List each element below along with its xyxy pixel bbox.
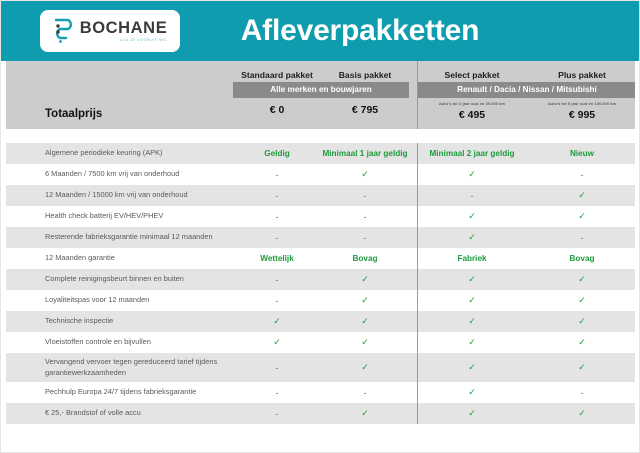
page-banner: BOCHANE ALS JE VOORUIT WIL Afleverpakket…	[1, 1, 639, 61]
feature-value-cell: ✓	[321, 408, 409, 419]
feature-value-cell: ✓	[417, 387, 527, 398]
feature-value-cell: ✓	[321, 295, 409, 306]
feature-value-cell: ✓	[233, 316, 321, 327]
feature-value-cell: ✓	[417, 408, 527, 419]
feature-value-cell: -	[321, 191, 409, 201]
header-separator	[1, 129, 639, 143]
feature-label: 6 Maanden / 7500 km vrij van onderhoud	[1, 169, 233, 180]
feature-value-cell: ✓	[527, 337, 637, 348]
column-header-standaard: Standaard pakket	[233, 61, 321, 80]
feature-value-cell: ✓	[527, 190, 637, 201]
feature-value-cell: -	[527, 170, 637, 180]
package-group-1: Standaard pakket Basis pakket Alle merke…	[233, 61, 409, 129]
feature-value-cell: ✓	[321, 169, 409, 180]
table-row: Complete reinigingsbeurt binnen en buite…	[1, 269, 639, 290]
feature-label: € 25,- Brandstof of volle accu	[1, 408, 233, 419]
feature-value-cell: ✓	[417, 211, 527, 222]
feature-value-cell: ✓	[417, 274, 527, 285]
feature-value-cell: Minimaal 2 jaar geldig	[417, 149, 527, 158]
table-row: € 25,- Brandstof of volle accu-✓✓✓	[1, 403, 639, 424]
feature-label: Technische inspectie	[1, 316, 233, 327]
feature-value-cell: ✓	[417, 337, 527, 348]
column-header-select: Select pakket	[417, 61, 527, 80]
table-row: Technische inspectie✓✓✓✓	[1, 311, 639, 332]
feature-value-cell: -	[233, 212, 321, 222]
feature-value-cell: -	[233, 409, 321, 419]
feature-value-cell: ✓	[417, 295, 527, 306]
feature-value-cell: ✓	[321, 337, 409, 348]
feature-value-cell: ✓	[527, 408, 637, 419]
table-row: 6 Maanden / 7500 km vrij van onderhoud-✓…	[1, 164, 639, 185]
table-row: Vervangend vervoer tegen gereduceerd tar…	[1, 353, 639, 382]
feature-value-cell: -	[233, 275, 321, 285]
feature-value-cell: ✓	[417, 232, 527, 243]
feature-value-cell: ✓	[527, 362, 637, 373]
group-gap	[409, 61, 417, 129]
feature-value-cell: Geldig	[233, 149, 321, 158]
feature-value-cell: ✓	[527, 316, 637, 327]
group-badge-merken: Renault / Dacia / Nissan / Mitsubishi	[417, 82, 637, 98]
feature-value-cell: -	[233, 388, 321, 398]
feature-value-cell: ✓	[321, 316, 409, 327]
table-row: Algemene periodieke keuring (APK)GeldigM…	[1, 143, 639, 164]
feature-label: Loyaliteitspas voor 12 maanden	[1, 295, 233, 306]
feature-value-cell: -	[321, 388, 409, 398]
feature-value-cell: ✓	[527, 211, 637, 222]
table-row: Resterende fabrieksgarantie minimaal 12 …	[1, 227, 639, 248]
feature-value-cell: -	[417, 191, 527, 201]
feature-value-cell: -	[233, 191, 321, 201]
feature-value-cell: Fabriek	[417, 254, 527, 263]
feature-value-cell: ✓	[417, 362, 527, 373]
feature-value-cell: -	[321, 233, 409, 243]
price-basis: € 795	[321, 104, 409, 116]
feature-value-cell: Bovag	[527, 254, 637, 263]
group-divider-body	[417, 143, 418, 424]
package-group-2: Select pakket Plus pakket Renault / Daci…	[417, 61, 637, 129]
feature-value-cell: -	[233, 363, 321, 373]
feature-value-cell: -	[233, 296, 321, 306]
feature-value-cell: -	[527, 388, 637, 398]
page-title: Afleverpakketten	[1, 14, 639, 48]
table-row: Loyaliteitspas voor 12 maanden-✓✓✓	[1, 290, 639, 311]
afleverpakketten-comparison-table: BOCHANE ALS JE VOORUIT WIL Afleverpakket…	[0, 0, 640, 453]
price-standaard: € 0	[233, 104, 321, 116]
feature-value-cell: ✓	[527, 274, 637, 285]
price-select: € 495	[417, 109, 527, 121]
feature-label: Pechhulp Europa 24/7 tijdens fabrieksgar…	[1, 387, 233, 398]
feature-value-cell: Nieuw	[527, 149, 637, 158]
price-plus: € 995	[527, 109, 637, 121]
right-edge-strip	[635, 61, 639, 452]
feature-label: 12 Maanden garantie	[1, 253, 233, 264]
feature-value-cell: ✓	[417, 316, 527, 327]
feature-value-cell: -	[233, 233, 321, 243]
group-divider	[417, 61, 418, 129]
feature-value-cell: Bovag	[321, 254, 409, 263]
feature-value-cell: ✓	[417, 169, 527, 180]
feature-value-cell: ✓	[321, 362, 409, 373]
feature-value-cell: -	[321, 212, 409, 222]
feature-value-cell: ✓	[527, 295, 637, 306]
group-badge-alle-merken: Alle merken en bouwjaren	[233, 82, 409, 98]
feature-label: 12 Maanden / 15000 km vrij van onderhoud	[1, 190, 233, 201]
feature-label: Algemene periodieke keuring (APK)	[1, 148, 233, 159]
feature-value-cell: ✓	[321, 274, 409, 285]
table-row: 12 Maanden garantieWettelijkBovagFabriek…	[1, 248, 639, 269]
feature-label: Resterende fabrieksgarantie minimaal 12 …	[1, 232, 233, 243]
feature-value-cell: Minimaal 1 jaar geldig	[321, 149, 409, 158]
total-price-label: Totaalprijs	[1, 108, 233, 129]
feature-rows: Algemene periodieke keuring (APK)GeldigM…	[1, 143, 639, 424]
feature-label: Vervangend vervoer tegen gereduceerd tar…	[1, 357, 233, 378]
feature-label: Complete reinigingsbeurt binnen en buite…	[1, 274, 233, 285]
column-header-plus: Plus pakket	[527, 61, 637, 80]
table-row: Vloeistoffen controle en bijvullen✓✓✓✓	[1, 332, 639, 353]
feature-label: Health check batterij EV/HEV/PHEV	[1, 211, 233, 222]
left-edge-strip	[1, 61, 6, 452]
table-header-band: Totaalprijs Standaard pakket Basis pakke…	[1, 61, 639, 129]
table-row: 12 Maanden / 15000 km vrij van onderhoud…	[1, 185, 639, 206]
table-row: Health check batterij EV/HEV/PHEV--✓✓	[1, 206, 639, 227]
feature-value-cell: -	[233, 170, 321, 180]
feature-label: Vloeistoffen controle en bijvullen	[1, 337, 233, 348]
feature-value-cell: -	[527, 233, 637, 243]
column-header-basis: Basis pakket	[321, 61, 409, 80]
feature-value-cell: Wettelijk	[233, 254, 321, 263]
feature-value-cell: ✓	[233, 337, 321, 348]
table-row: Pechhulp Europa 24/7 tijdens fabrieksgar…	[1, 382, 639, 403]
table-footer-pad	[1, 424, 639, 444]
